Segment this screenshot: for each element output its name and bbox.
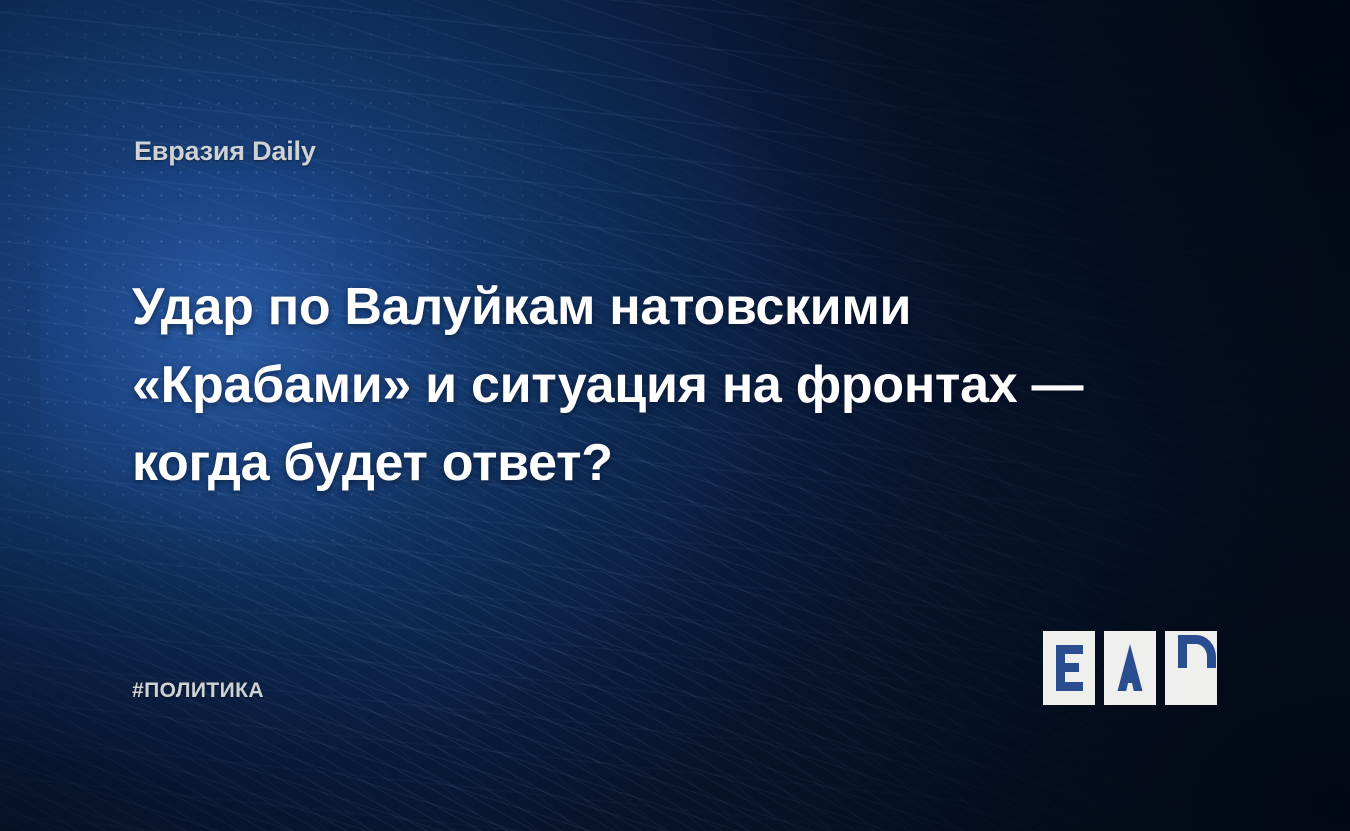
logo-tile-d-top-half	[1165, 631, 1217, 668]
news-card: Евразия Daily Удар по Валуйкам натовским…	[0, 0, 1350, 831]
card-content: Евразия Daily Удар по Валуйкам натовским…	[0, 0, 1350, 831]
logo-tile-e-icon	[1043, 631, 1095, 705]
logo-tile-d-bottom-half	[1165, 668, 1217, 705]
logo-tile-d-split-icon	[1165, 631, 1217, 705]
eadaily-logo	[1043, 631, 1217, 705]
site-wordmark: Евразия Daily	[134, 136, 316, 167]
category-hashtag: #ПОЛИТИКА	[132, 679, 264, 703]
logo-tile-a-icon	[1104, 631, 1156, 705]
page-title: Удар по Валуйкам натовскими «Крабами» и …	[132, 268, 1132, 502]
